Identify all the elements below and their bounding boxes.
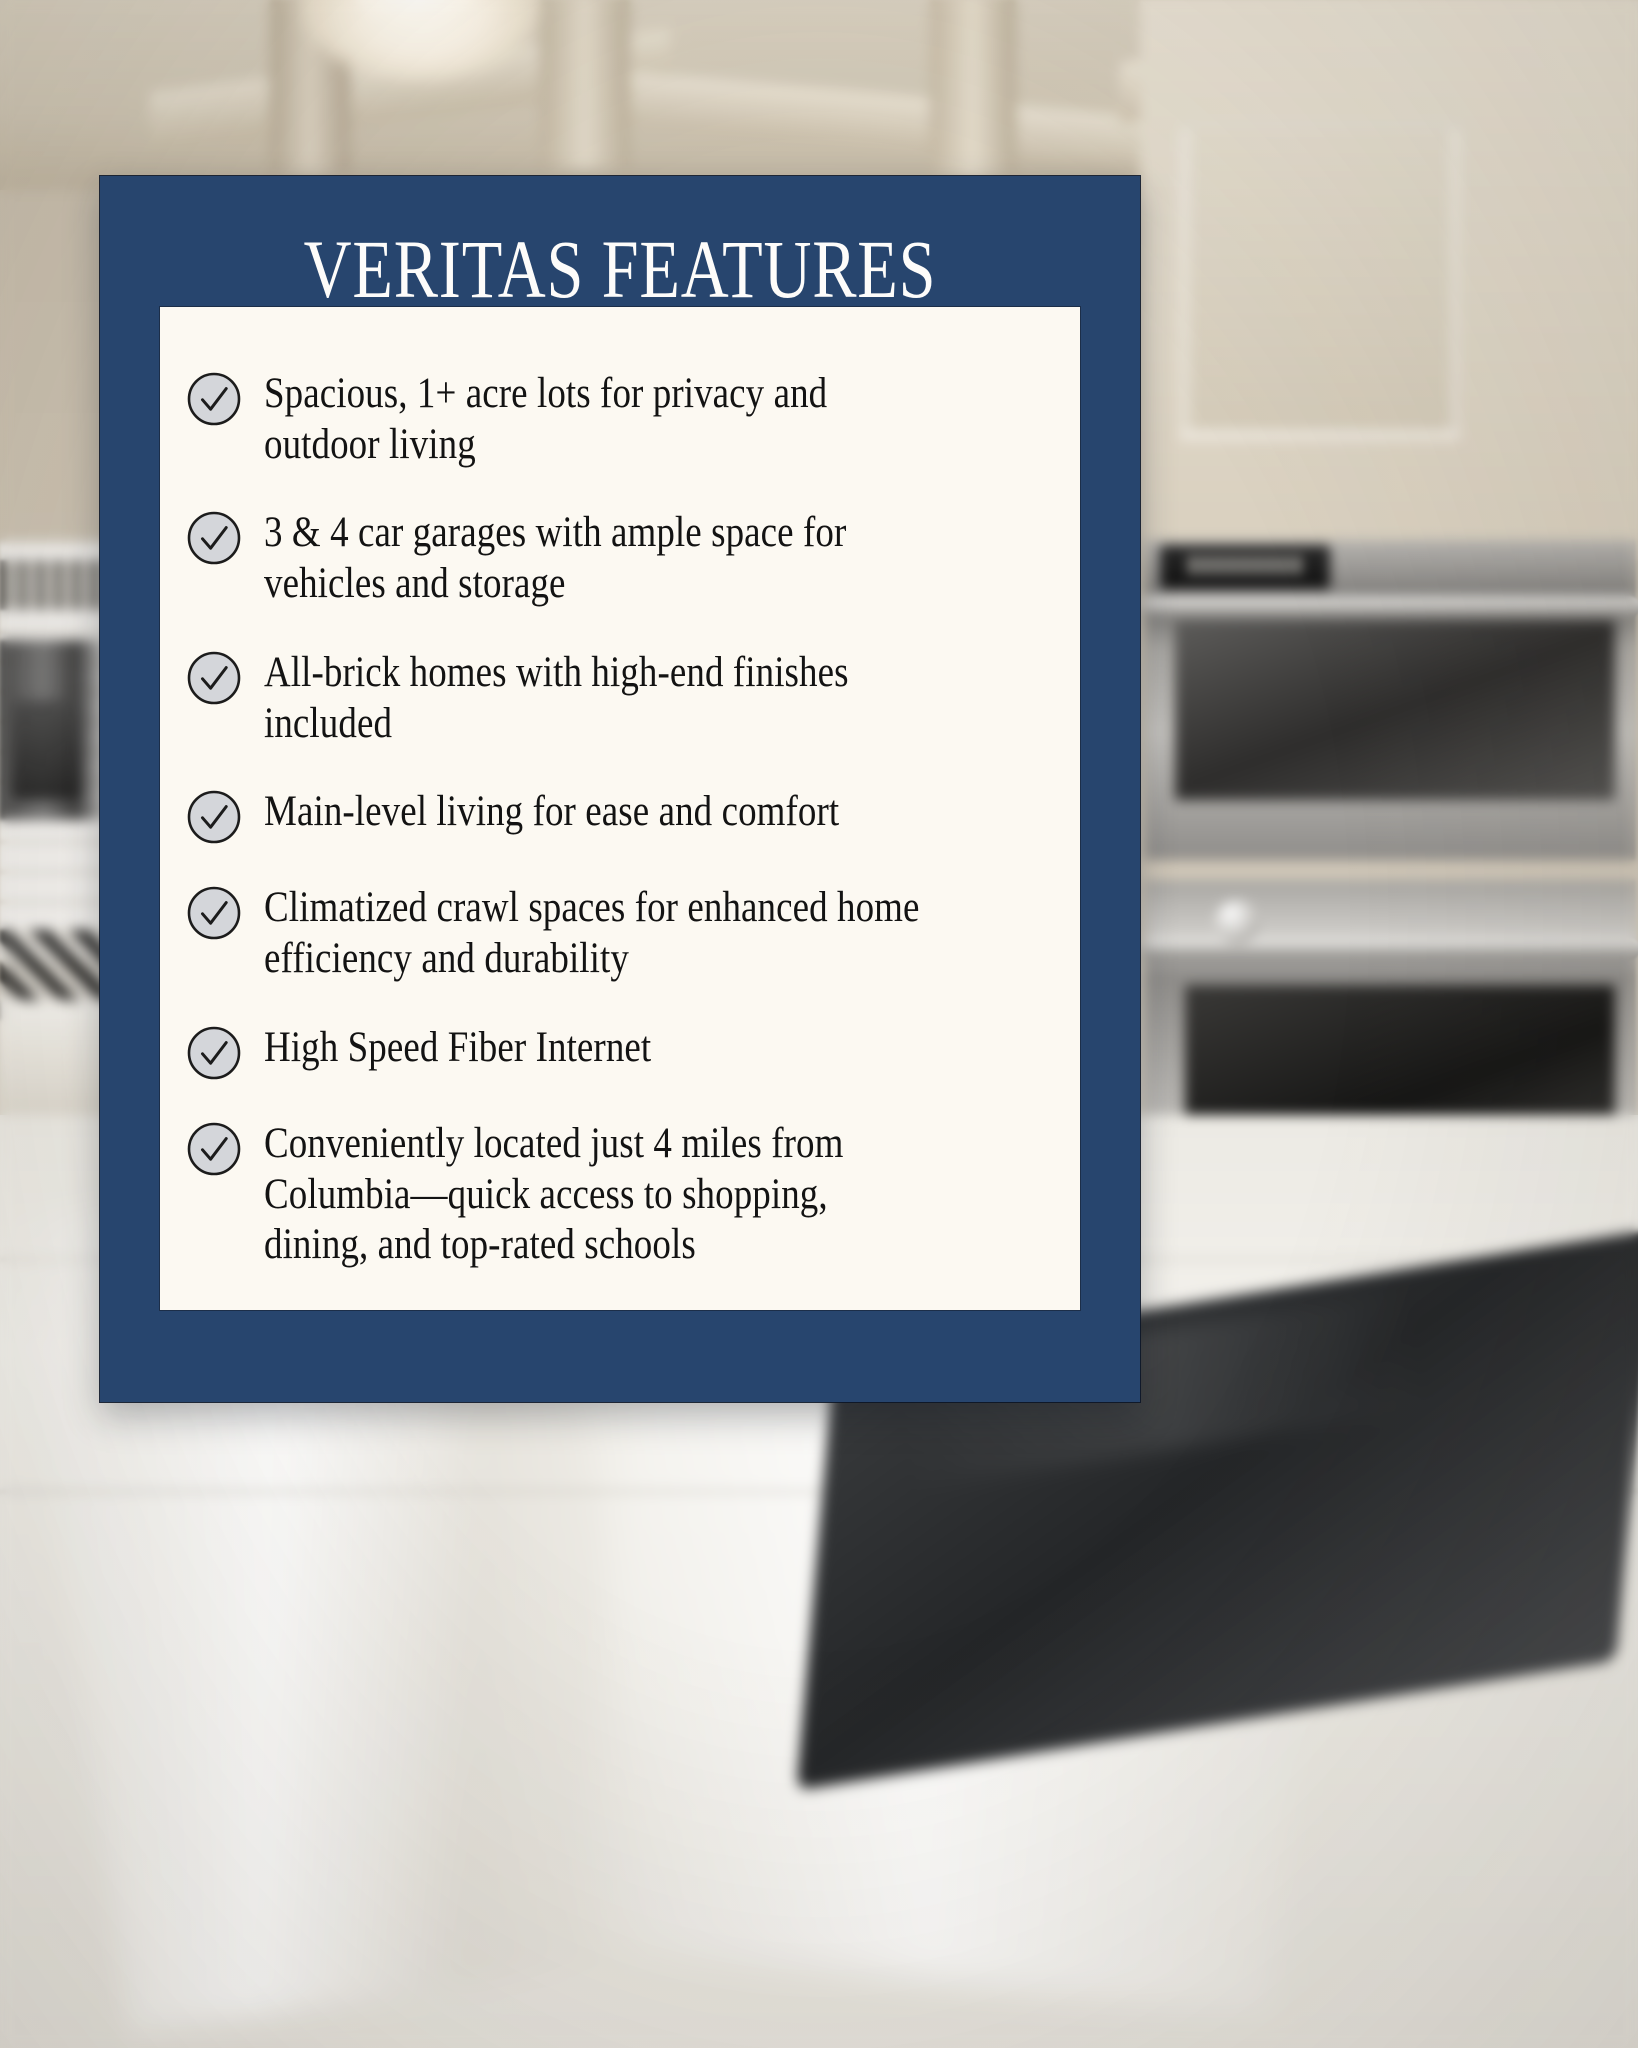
list-item: Exclusive community with only 26 homesit… — [186, 1309, 1042, 1310]
list-item: High Speed Fiber Internet — [186, 1023, 1042, 1081]
check-circle-icon — [186, 371, 242, 427]
check-circle-icon — [186, 650, 242, 706]
check-circle-icon — [186, 1121, 242, 1177]
list-item-label: All-brick homes with high-end finishes i… — [264, 648, 933, 749]
check-circle-icon — [186, 1025, 242, 1081]
list-item: All-brick homes with high-end finishes i… — [186, 648, 1042, 749]
list-item-label: High Speed Fiber Internet — [264, 1023, 933, 1074]
page-title: VERITAS FEATURES — [204, 228, 1036, 311]
check-circle-icon — [186, 789, 242, 845]
list-item: Climatized crawl spaces for enhanced hom… — [186, 883, 1042, 984]
features-list: Spacious, 1+ acre lots for privacy and o… — [160, 307, 1080, 1310]
list-item-label: Main-level living for ease and comfort — [264, 787, 933, 838]
list-item: Spacious, 1+ acre lots for privacy and o… — [186, 369, 1042, 470]
list-item-label: Spacious, 1+ acre lots for privacy and o… — [264, 369, 933, 470]
list-item: Main-level living for ease and comfort — [186, 787, 1042, 845]
list-item-label: Climatized crawl spaces for enhanced hom… — [264, 883, 933, 984]
features-panel: VERITAS FEATURES Spacious, 1+ acre lots … — [100, 176, 1140, 1402]
features-card: Spacious, 1+ acre lots for privacy and o… — [160, 307, 1080, 1310]
list-item-label: 3 & 4 car garages with ample space for v… — [264, 508, 933, 609]
list-item: Conveniently located just 4 miles from C… — [186, 1119, 1042, 1271]
list-item: 3 & 4 car garages with ample space for v… — [186, 508, 1042, 609]
check-circle-icon — [186, 885, 242, 941]
check-circle-icon — [186, 510, 242, 566]
list-item-label: Exclusive community with only 26 homesit… — [264, 1309, 933, 1310]
list-item-label: Conveniently located just 4 miles from C… — [264, 1119, 933, 1271]
